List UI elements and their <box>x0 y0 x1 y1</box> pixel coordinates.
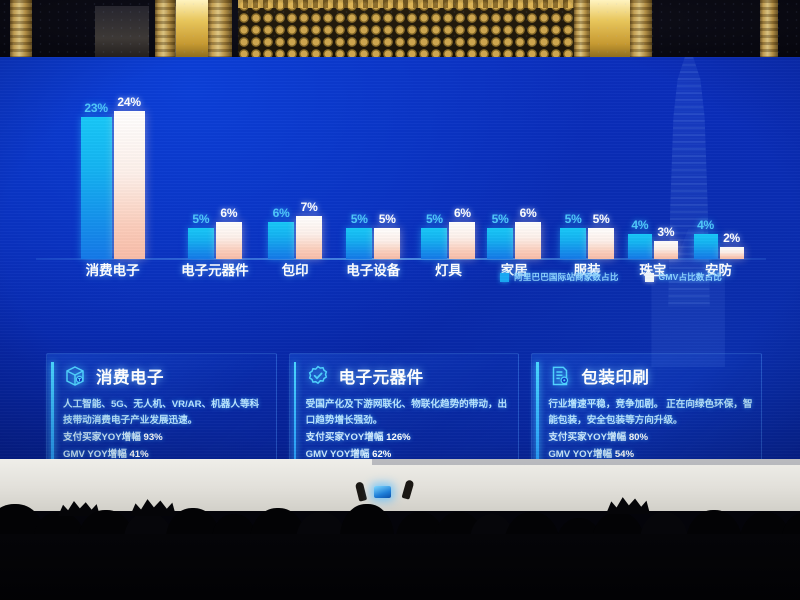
stat-label: 支付买家YOY增幅 <box>548 432 626 443</box>
audience-hair <box>130 498 176 516</box>
bar-merchant-share[interactable]: 5% <box>346 228 372 259</box>
card-description: 受国产化及下游网联化、物联化趋势的带动，出口趋势增长强劲。 <box>306 397 511 428</box>
bar-merchant-share[interactable]: 4% <box>628 234 652 259</box>
card-electronic-components[interactable]: 电子元器件 受国产化及下游网联化、物联化趋势的带动，出口趋势增长强劲。 支付买家… <box>289 353 520 459</box>
bar-group: 5%6% <box>421 99 475 259</box>
box-3d-icon <box>63 364 87 388</box>
stat-value: 54% <box>615 449 634 459</box>
card-header: 包装印刷 <box>548 364 753 388</box>
bar-value-label: 5% <box>565 212 582 226</box>
audience-silhouettes <box>0 470 800 600</box>
stat-label: 支付买家YOY增幅 <box>306 432 384 443</box>
legend-label: 阿里巴巴国际站商家数占比 <box>514 271 618 283</box>
chart-plot-area: 23%24%5%6%6%7%5%5%5%6%5%6%5%5%4%3%4%2% <box>36 99 766 259</box>
backdrop-texture <box>0 0 800 62</box>
bar-merchant-share[interactable]: 5% <box>188 228 214 259</box>
card-description: 人工智能、5G、无人机、VR/AR、机器人等科技带动消费电子产业发展迅速。 <box>63 397 268 428</box>
bar-value-label: 6% <box>520 206 537 220</box>
bar-group: 5%6% <box>487 99 541 259</box>
raised-hand <box>355 481 367 501</box>
card-stat-buyer-growth: 支付买家YOY增幅 126% <box>306 430 511 447</box>
bar-merchant-share[interactable]: 6% <box>268 222 294 259</box>
card-accent-bar <box>536 362 539 459</box>
card-accent-bar <box>294 362 297 459</box>
card-stat-gmv-growth: GMV YOY增幅 62% <box>306 447 511 459</box>
bar-value-label: 5% <box>492 212 509 226</box>
audience-hair <box>606 496 650 514</box>
bar-value-label: 5% <box>192 212 209 226</box>
card-title: 电子元器件 <box>339 364 424 388</box>
document-report-icon <box>548 364 572 388</box>
card-header: 电子元器件 <box>306 364 511 388</box>
stat-value: 41% <box>129 449 148 459</box>
stat-label: 支付买家YOY增幅 <box>63 432 141 443</box>
bar-value-label: 2% <box>723 231 740 245</box>
bar-gmv-share[interactable]: 2% <box>720 247 744 259</box>
card-stat-buyer-growth: 支付买家YOY增幅 93% <box>63 430 268 447</box>
stat-value: 80% <box>629 432 648 443</box>
legend-swatch-white <box>645 273 654 282</box>
legend-label: GMV占比数占比 <box>659 271 722 283</box>
card-accent-bar <box>51 362 54 459</box>
card-stat-buyer-growth: 支付买家YOY增幅 80% <box>548 430 753 447</box>
verified-badge-icon <box>306 364 330 388</box>
stat-label: GMV YOY增幅 <box>63 449 127 459</box>
card-packaging-printing[interactable]: 包装印刷 行业增速平稳，竞争加剧。 正在向绿色环保，智能包装，安全包装等方向升级… <box>531 353 762 459</box>
bar-group: 4%2% <box>694 99 744 259</box>
stat-label: GMV YOY增幅 <box>548 449 612 459</box>
bar-gmv-share[interactable]: 24% <box>114 111 145 259</box>
card-stat-gmv-growth: GMV YOY增幅 41% <box>63 447 268 459</box>
industry-cards: 消费电子 人工智能、5G、无人机、VR/AR、机器人等科技带动消费电子产业发展迅… <box>46 353 762 459</box>
bar-gmv-share[interactable]: 6% <box>515 222 541 259</box>
bar-value-label: 4% <box>697 218 714 232</box>
card-title: 包装印刷 <box>581 364 649 388</box>
bar-value-label: 7% <box>301 200 318 214</box>
bar-gmv-share[interactable]: 6% <box>216 222 242 259</box>
bar-merchant-share[interactable]: 4% <box>694 234 718 259</box>
bar-value-label: 5% <box>426 212 443 226</box>
bar-group: 4%3% <box>628 99 678 259</box>
stat-value: 62% <box>372 449 391 459</box>
card-consumer-electronics[interactable]: 消费电子 人工智能、5G、无人机、VR/AR、机器人等科技带动消费电子产业发展迅… <box>46 353 277 459</box>
legend-swatch-blue <box>500 273 509 282</box>
bar-value-label: 5% <box>379 212 396 226</box>
bar-merchant-share[interactable]: 5% <box>487 228 513 259</box>
card-header: 消费电子 <box>63 364 268 388</box>
card-title: 消费电子 <box>96 364 164 388</box>
bar-group: 5%5% <box>560 99 614 259</box>
bar-value-label: 6% <box>273 206 290 220</box>
stat-label: GMV YOY增幅 <box>306 449 370 459</box>
bar-group: 6%7% <box>268 99 322 259</box>
panel-shadow <box>372 459 800 465</box>
bar-merchant-share[interactable]: 5% <box>560 228 586 259</box>
bar-gmv-share[interactable]: 5% <box>588 228 614 259</box>
stat-value: 126% <box>386 432 411 443</box>
legend-item-gmv-share[interactable]: GMV占比数占比 <box>645 271 722 283</box>
bar-value-label: 5% <box>351 212 368 226</box>
bar-value-label: 23% <box>84 101 107 115</box>
stage-backdrop <box>0 0 800 62</box>
card-stat-gmv-growth: GMV YOY增幅 54% <box>548 447 753 459</box>
bar-gmv-share[interactable]: 5% <box>374 228 400 259</box>
bar-chart: 23%24%5%6%6%7%5%5%5%6%5%6%5%5%4%3%4%2% 消… <box>36 81 766 281</box>
led-presentation-screen: 23%24%5%6%6%7%5%5%5%6%5%6%5%5%4%3%4%2% 消… <box>0 57 800 459</box>
bar-gmv-share[interactable]: 7% <box>296 216 322 259</box>
bar-value-label: 6% <box>454 206 471 220</box>
bar-gmv-share[interactable]: 6% <box>449 222 475 259</box>
stage-scene: 23%24%5%6%6%7%5%5%5%6%5%6%5%5%4%3%4%2% 消… <box>0 0 800 600</box>
bar-merchant-share[interactable]: 23% <box>81 117 112 259</box>
bar-value-label: 4% <box>631 218 648 232</box>
bar-value-label: 5% <box>593 212 610 226</box>
bar-value-label: 3% <box>657 225 674 239</box>
bar-group: 23%24% <box>81 99 145 259</box>
raised-hand <box>402 479 415 499</box>
bar-group: 5%6% <box>188 99 242 259</box>
chart-legend: 阿里巴巴国际站商家数占比 GMV占比数占比 <box>36 269 766 285</box>
phone-screen <box>374 486 391 498</box>
bar-value-label: 24% <box>117 95 140 109</box>
card-description: 行业增速平稳，竞争加剧。 正在向绿色环保，智能包装，安全包装等方向升级。 <box>548 397 753 428</box>
stat-value: 93% <box>144 432 163 443</box>
bar-value-label: 6% <box>220 206 237 220</box>
bar-merchant-share[interactable]: 5% <box>421 228 447 259</box>
bar-gmv-share[interactable]: 3% <box>654 241 678 259</box>
foreground-darkness <box>0 534 800 600</box>
bar-group: 5%5% <box>346 99 400 259</box>
legend-item-merchant-share[interactable]: 阿里巴巴国际站商家数占比 <box>500 271 618 283</box>
